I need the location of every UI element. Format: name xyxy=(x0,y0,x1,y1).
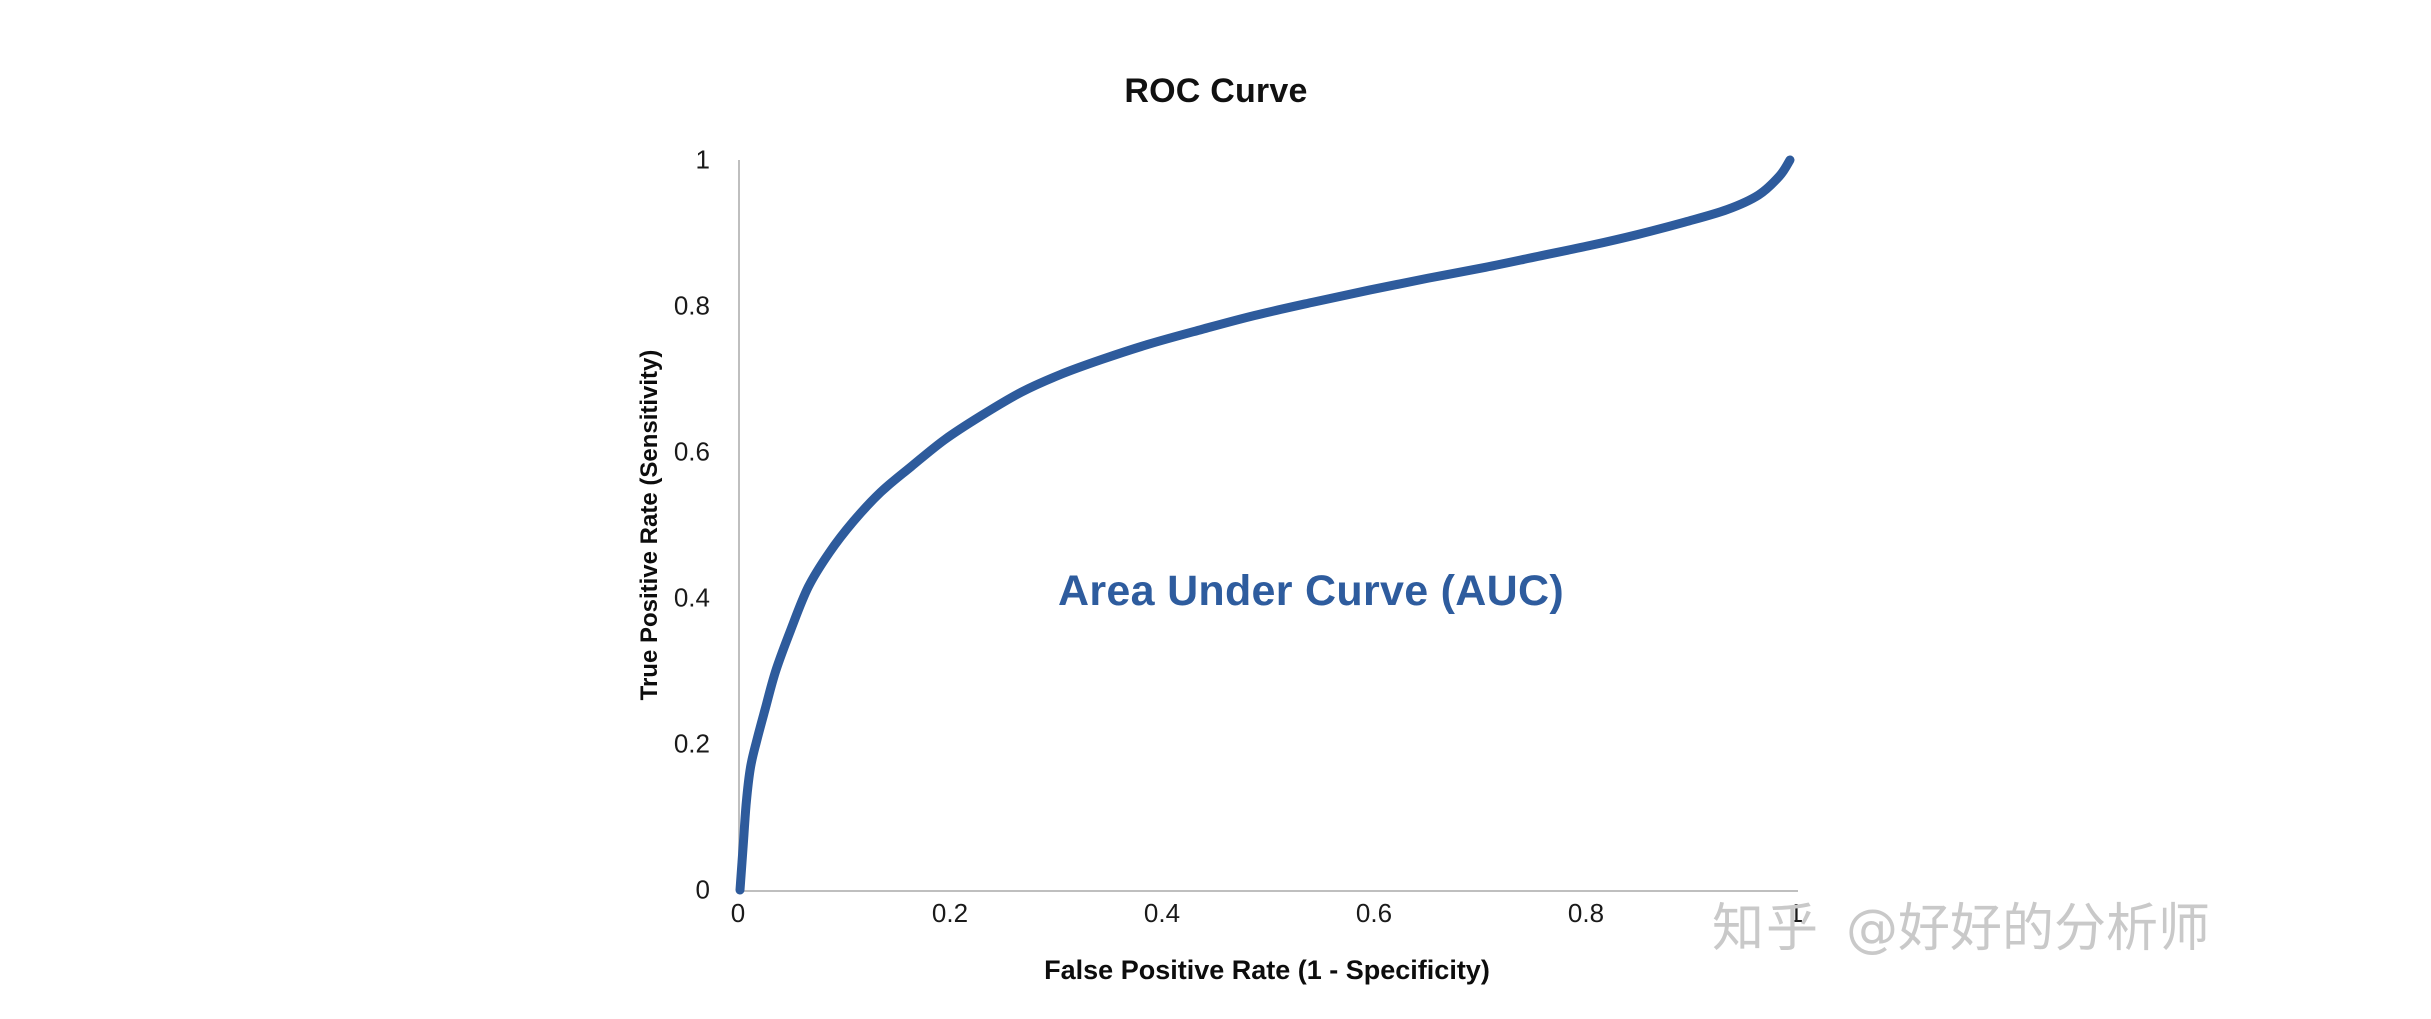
watermark-handle: @好好的分析师 xyxy=(1846,899,2210,959)
roc-curve-plot xyxy=(0,0,2431,1019)
x-axis-title: False Positive Rate (1 - Specificity) xyxy=(738,955,1796,986)
y-axis-title: True Positive Rate (Sensitivity) xyxy=(636,350,664,701)
x-tick-label-0.6: 0.6 xyxy=(1356,898,1392,929)
x-tick-label-0.8: 0.8 xyxy=(1568,898,1604,929)
roc-curve-line xyxy=(740,160,1790,890)
page-title: ROC Curve xyxy=(1124,72,1307,111)
x-tick-label-0.4: 0.4 xyxy=(1144,898,1180,929)
x-tick-label-0: 0 xyxy=(731,898,745,929)
y-tick-label-0.8: 0.8 xyxy=(652,291,710,322)
y-tick-label-1: 1 xyxy=(652,145,710,176)
y-axis-line xyxy=(738,160,740,892)
watermark-logo: 知乎 xyxy=(1712,899,1820,959)
y-tick-label-0: 0 xyxy=(652,875,710,906)
auc-annotation-label: Area Under Curve (AUC) xyxy=(1058,567,1564,616)
x-axis-line xyxy=(738,890,1798,892)
y-tick-label-0.2: 0.2 xyxy=(652,729,710,760)
x-tick-label-0.2: 0.2 xyxy=(932,898,968,929)
watermark: 知乎@好好的分析师 xyxy=(1712,886,2210,961)
chart-canvas: ROC Curve 1 0.8 0.6 0.4 0.2 0 0 0.2 0.4 … xyxy=(0,0,2431,1019)
chart-title-container: ROC Curve xyxy=(0,72,2431,111)
